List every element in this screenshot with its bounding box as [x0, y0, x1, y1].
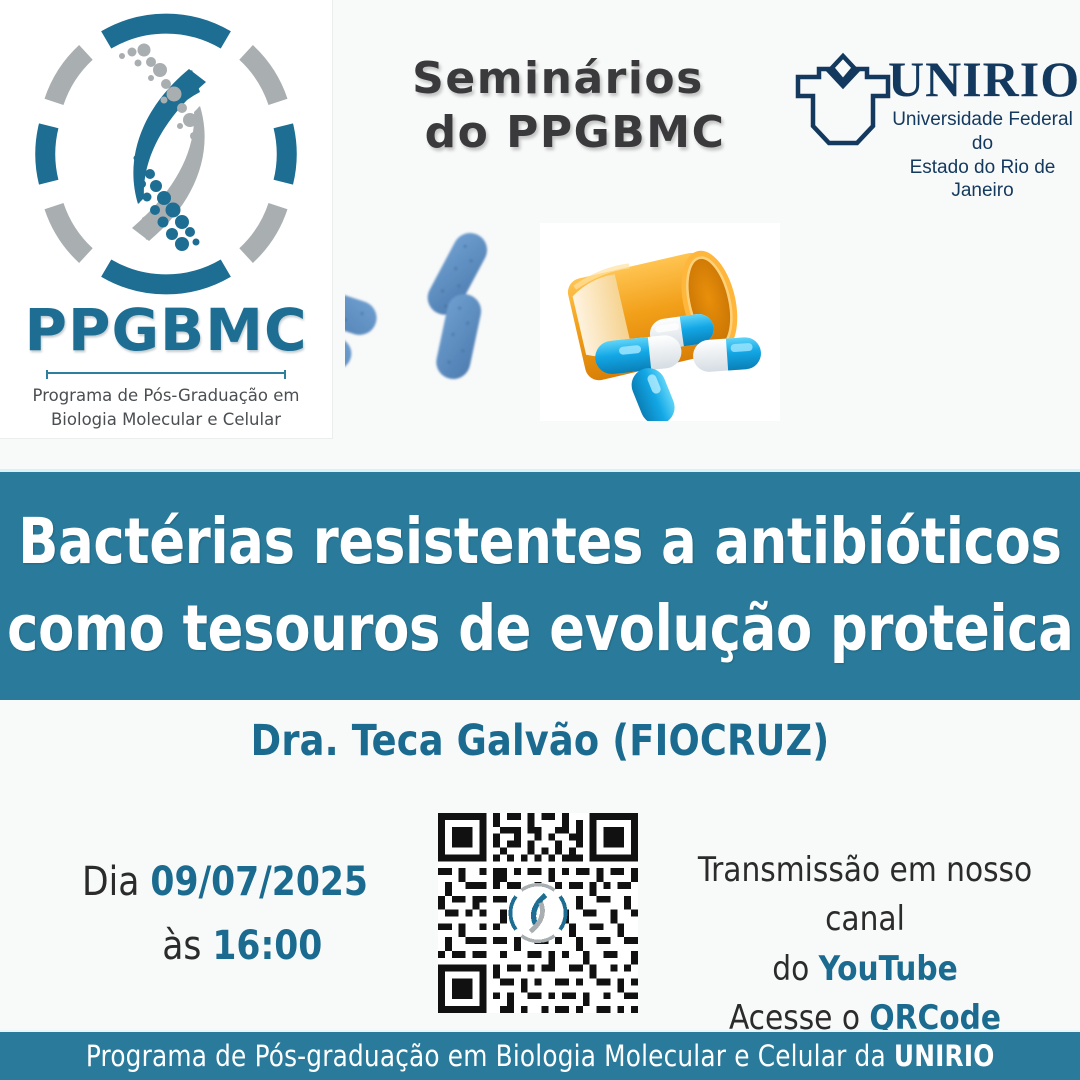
unirio-subtitle-line1: Universidade Federal do [892, 109, 1073, 154]
ppgbmc-logo-subtitle: Programa de Pós-Graduação em Biologia Mo… [0, 384, 332, 432]
broadcast-line1: Transmissão em nosso canal [661, 846, 1068, 945]
date-value: 09/07/2025 [150, 859, 368, 905]
seminar-series-title: Seminários do PPGBMC [338, 52, 778, 159]
unirio-logo: UNIRIO Universidade Federal do Estado do… [790, 48, 1075, 160]
seminar-poster: PPGBMC Programa de Pós-Graduação em Biol… [0, 0, 1080, 1080]
talk-title-banner: Bactérias resistentes a antibióticos com… [0, 469, 1080, 700]
logo-divider [46, 372, 286, 374]
seminar-title-line2: do PPGBMC [338, 106, 778, 160]
unirio-wordmark: UNIRIO [888, 54, 1080, 104]
event-datetime: Dia 09/07/2025 às 16:00 [38, 850, 412, 978]
broadcast-info: Transmissão em nosso canal do YouTube Ac… [661, 846, 1068, 1043]
bacteria-rods-icon [345, 211, 540, 426]
event-date-row: Dia 09/07/2025 [38, 850, 412, 914]
event-info-row: Dia 09/07/2025 às 16:00 [0, 808, 1080, 1023]
broadcast-line2-prefix: do [772, 949, 818, 989]
date-label: Dia [82, 859, 139, 905]
speaker-name: Dra. Teca Galvão (FIOCRUZ) [27, 716, 1053, 766]
time-label: às [162, 923, 201, 969]
footer-unirio-label: UNIRIO [894, 1039, 995, 1073]
poster-header: PPGBMC Programa de Pós-Graduação em Biol… [0, 0, 1080, 469]
unirio-subtitle: Universidade Federal do Estado do Rio de… [890, 108, 1075, 203]
time-value: 16:00 [212, 923, 322, 969]
poster-footer: Programa de Pós-graduação em Biologia Mo… [0, 1030, 1080, 1080]
youtube-label: YouTube [819, 949, 958, 989]
broadcast-line2: do YouTube [661, 945, 1068, 994]
ppgbmc-subtitle-line2: Biologia Molecular e Celular [51, 410, 281, 429]
header-artwork [345, 205, 780, 440]
pill-bottle-photo [540, 223, 780, 421]
ppgbmc-logo-card: PPGBMC Programa de Pós-Graduação em Biol… [0, 0, 332, 438]
unirio-emblem-icon [795, 50, 891, 150]
seminar-title-line1: Seminários [412, 53, 704, 104]
unirio-subtitle-line2: Estado do Rio de Janeiro [910, 157, 1056, 202]
footer-text: Programa de Pós-graduação em Biologia Mo… [86, 1039, 995, 1073]
footer-text-prefix: Programa de Pós-graduação em Biologia Mo… [86, 1039, 894, 1073]
talk-title-line1: Bactérias resistentes a antibióticos [18, 499, 1061, 586]
ppgbmc-dna-circle-icon [14, 8, 318, 300]
ppgbmc-subtitle-line1: Programa de Pós-Graduação em [33, 386, 300, 405]
talk-title-line2: como tesouros de evolução proteica [7, 586, 1073, 673]
event-time-row: às 16:00 [38, 914, 412, 978]
qrcode-image[interactable] [438, 813, 638, 1013]
ppgbmc-wordmark: PPGBMC [0, 296, 332, 364]
